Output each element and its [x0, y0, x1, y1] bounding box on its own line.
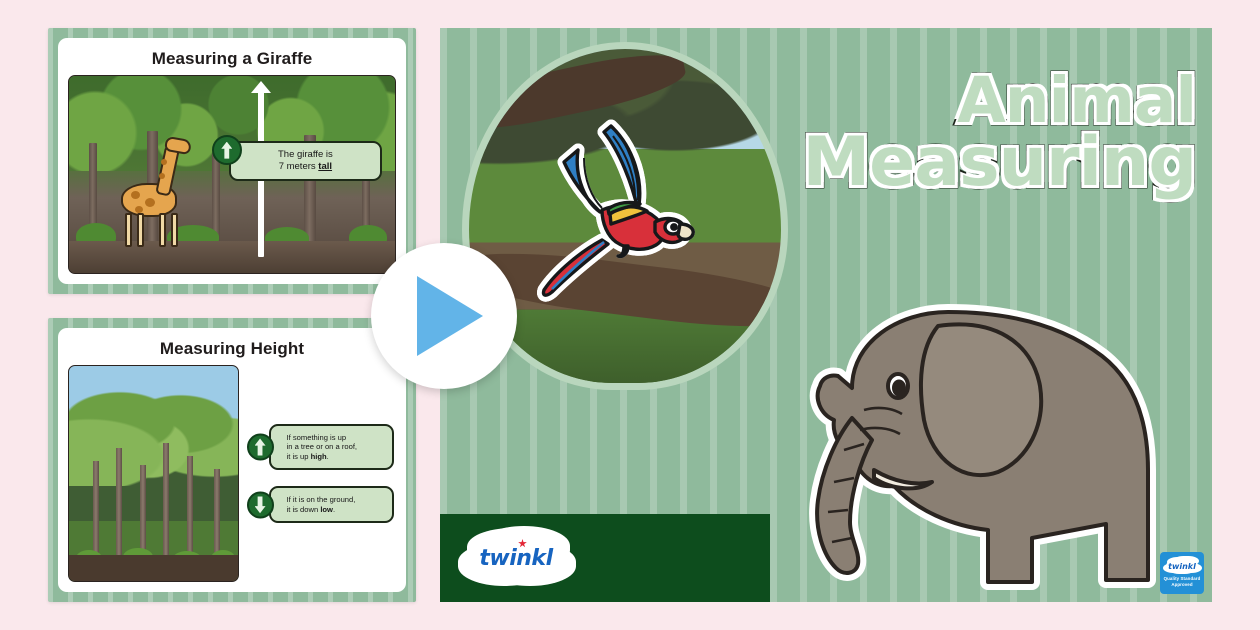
arrow-up-icon: [247, 434, 274, 461]
cover-title: Animal Measuring: [803, 72, 1197, 194]
badge-line-2: Approved: [1164, 582, 1201, 588]
twinkl-wordmark: twinkl: [466, 532, 566, 584]
slide-2-page: Measuring Height: [58, 328, 406, 592]
giraffe-callout: The giraffe is 7 meters tall: [229, 141, 382, 181]
high-line-3: it is up: [287, 452, 311, 461]
slide-1-body: The giraffe is 7 meters tall: [68, 75, 396, 274]
high-tail: .: [327, 452, 329, 461]
callout-low: If it is on the ground, it is down low.: [247, 486, 394, 523]
badge-wordmark: twinkl: [1168, 562, 1196, 571]
quality-standard-badge: twinkl Quality Standard Approved: [1160, 552, 1204, 594]
arrow-down-icon: [247, 491, 274, 518]
giraffe-jungle-illustration: The giraffe is 7 meters tall: [68, 75, 396, 274]
callout-emphasis: tall: [318, 161, 332, 172]
cover-preview-panel[interactable]: Animal Measuring: [440, 28, 1212, 602]
low-emphasis: low: [320, 505, 333, 514]
high-line-1: If something is up: [287, 433, 347, 442]
badge-cloud-icon: twinkl: [1166, 558, 1198, 574]
slide-1-page: Measuring a Giraffe: [58, 38, 406, 284]
slide-2-body: If something is up in a tree or on a roo…: [68, 365, 396, 582]
callout-high: If something is up in a tree or on a roo…: [247, 424, 394, 470]
elephant-illustration: [702, 238, 1212, 602]
low-tail: .: [333, 505, 335, 514]
rainforest-floor: [69, 555, 238, 581]
callout-line-2: 7 meters: [279, 161, 319, 172]
low-line-1: If it is on the ground,: [287, 495, 356, 504]
giraffe-figure: [115, 129, 201, 247]
slide-thumbnail-2[interactable]: Measuring Height: [48, 318, 416, 602]
callout-line-1: The giraffe is: [278, 149, 333, 160]
low-line-2: it is down: [287, 505, 321, 514]
cover-title-line-1: Animal: [803, 72, 1197, 131]
macaw-parrot-illustration: [516, 106, 716, 306]
play-button[interactable]: [371, 243, 517, 389]
high-line-2: in a tree or on a roof,: [287, 442, 358, 451]
slide-thumbnail-1[interactable]: Measuring a Giraffe: [48, 28, 416, 294]
arrow-up-icon: [212, 135, 242, 165]
slide-thumbnail-column: Measuring a Giraffe: [48, 28, 416, 602]
rainforest-illustration: [68, 365, 239, 582]
slide-2-title: Measuring Height: [68, 336, 396, 365]
callout-high-text: If something is up in a tree or on a roo…: [269, 424, 394, 470]
cover-title-line-2: Measuring: [803, 131, 1197, 194]
callout-low-text: If it is on the ground, it is down low.: [269, 486, 394, 523]
slide-1-title: Measuring a Giraffe: [68, 46, 396, 75]
play-triangle-icon: [417, 276, 483, 356]
height-callout-stack: If something is up in a tree or on a roo…: [247, 365, 396, 582]
twinkl-logo: twinkl: [466, 532, 566, 584]
high-emphasis: high: [311, 452, 327, 461]
badge-caption: Quality Standard Approved: [1164, 576, 1201, 588]
